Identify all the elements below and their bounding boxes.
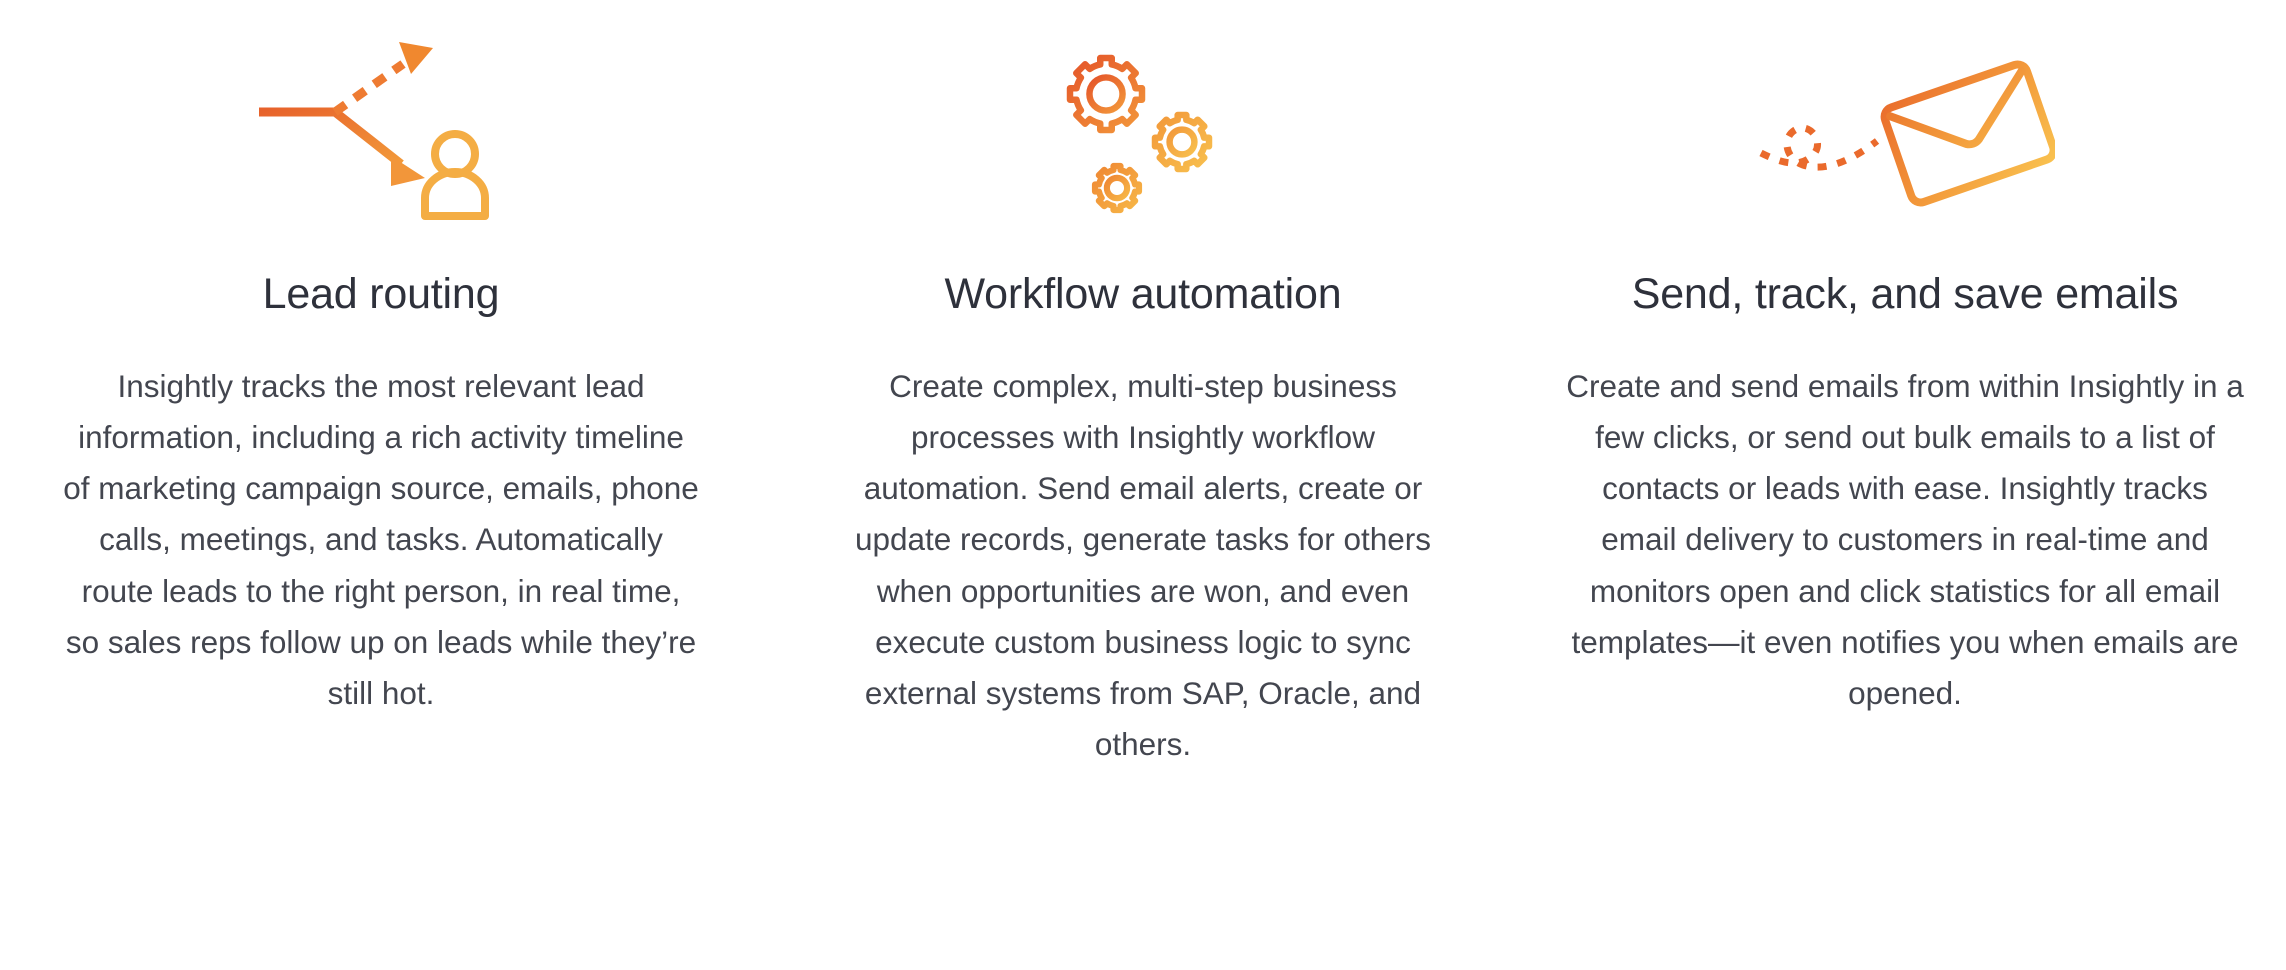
arrow-split-line [259,112,401,164]
feature-grid: Lead routing Insightly tracks the most r… [0,0,2286,970]
feature-body: Create complex, multi-step business proc… [843,319,1443,769]
dashed-arrow [335,42,433,112]
gears-icon [788,0,1498,270]
feature-column-workflow-automation: Workflow automation Create complex, mult… [762,0,1524,970]
feature-heading: Workflow automation [945,270,1342,319]
envelope-icon [1550,0,2260,270]
gear-medium [1155,115,1209,169]
tilted-envelope [1882,62,2055,205]
feature-heading: Lead routing [263,270,500,319]
feature-body: Create and send emails from within Insig… [1565,319,2245,718]
lead-routing-icon [26,0,736,270]
feature-body: Insightly tracks the most relevant lead … [61,319,701,718]
solid-arrow [391,156,425,186]
person-silhouette [425,134,485,216]
gear-small [1095,166,1139,210]
feature-column-send-track-save-emails: Send, track, and save emails Create and … [1524,0,2286,970]
gear-large [1070,58,1142,130]
dashed-swirl-trail [1761,128,1877,167]
feature-heading: Send, track, and save emails [1632,270,2179,319]
feature-column-lead-routing: Lead routing Insightly tracks the most r… [0,0,762,970]
